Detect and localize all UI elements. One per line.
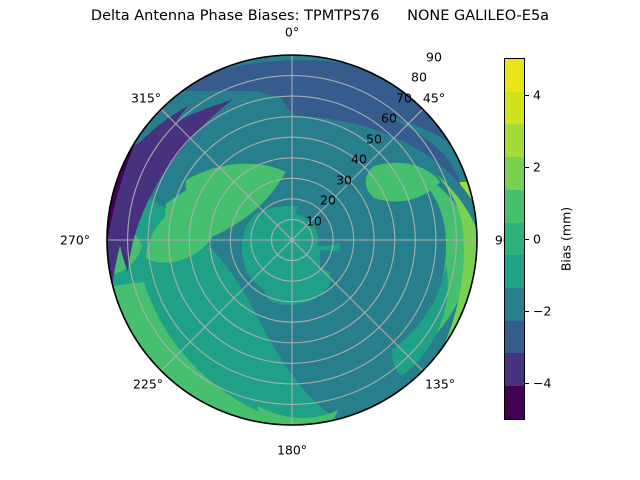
colorbar-ticklabel-0: 0 [533, 232, 541, 247]
colorbar-band-4 [505, 190, 524, 223]
radial-label-30: 30 [336, 173, 352, 188]
chart-title: Delta Antenna Phase Biases: TPMTPS76 NON… [0, 8, 640, 24]
colorbar-ticklabel--2: −2 [533, 304, 551, 319]
radial-label-40: 40 [351, 152, 367, 167]
angle-label-135: 135° [425, 377, 455, 392]
colorbar-band-7 [505, 288, 524, 321]
colorbar-gradient [504, 58, 525, 420]
radial-label-20: 20 [320, 193, 336, 208]
radial-label-80: 80 [411, 70, 427, 85]
radial-label-50: 50 [366, 132, 382, 147]
colorbar-band-6 [505, 255, 524, 288]
colorbar-ticklabel--4: −4 [533, 376, 551, 391]
colorbar-band-8 [505, 321, 524, 354]
polar-gridlines [107, 55, 477, 425]
radial-label-70: 70 [396, 91, 412, 106]
angle-label-270: 270° [60, 233, 90, 248]
colorbar-band-9 [505, 353, 524, 386]
colorbar-ticklabel-2: 2 [533, 160, 541, 175]
colorbar-ticklabel-4: 4 [533, 88, 541, 103]
polar-contour-plot [106, 54, 478, 426]
colorbar-band-10 [505, 386, 524, 419]
colorbar-tick--4 [525, 383, 529, 384]
colorbar: −4−2024 Bias (mm) [504, 58, 614, 420]
figure-canvas: Delta Antenna Phase Biases: TPMTPS76 NON… [0, 0, 640, 480]
angle-label-180: 180° [277, 443, 307, 458]
angle-label-45: 45° [423, 91, 445, 106]
colorbar-tick--2 [525, 311, 529, 312]
colorbar-band-3 [505, 157, 524, 190]
colorbar-band-1 [505, 92, 524, 125]
colorbar-band-0 [505, 59, 524, 92]
colorbar-axis-label: Bias (mm) [559, 207, 574, 271]
radial-label-10: 10 [306, 214, 322, 229]
colorbar-band-2 [505, 124, 524, 157]
colorbar-band-5 [505, 223, 524, 256]
colorbar-tick-4 [525, 95, 529, 96]
angle-label-225: 225° [133, 377, 163, 392]
radial-label-90: 90 [426, 50, 442, 65]
colorbar-tick-0 [525, 239, 529, 240]
colorbar-tick-2 [525, 167, 529, 168]
angle-label-0: 0° [285, 25, 299, 40]
polar-axes: 0° 45° 90° 135° 180° 225° 270° 315° 10 2… [106, 54, 478, 426]
radial-label-60: 60 [381, 111, 397, 126]
angle-label-315: 315° [131, 91, 161, 106]
